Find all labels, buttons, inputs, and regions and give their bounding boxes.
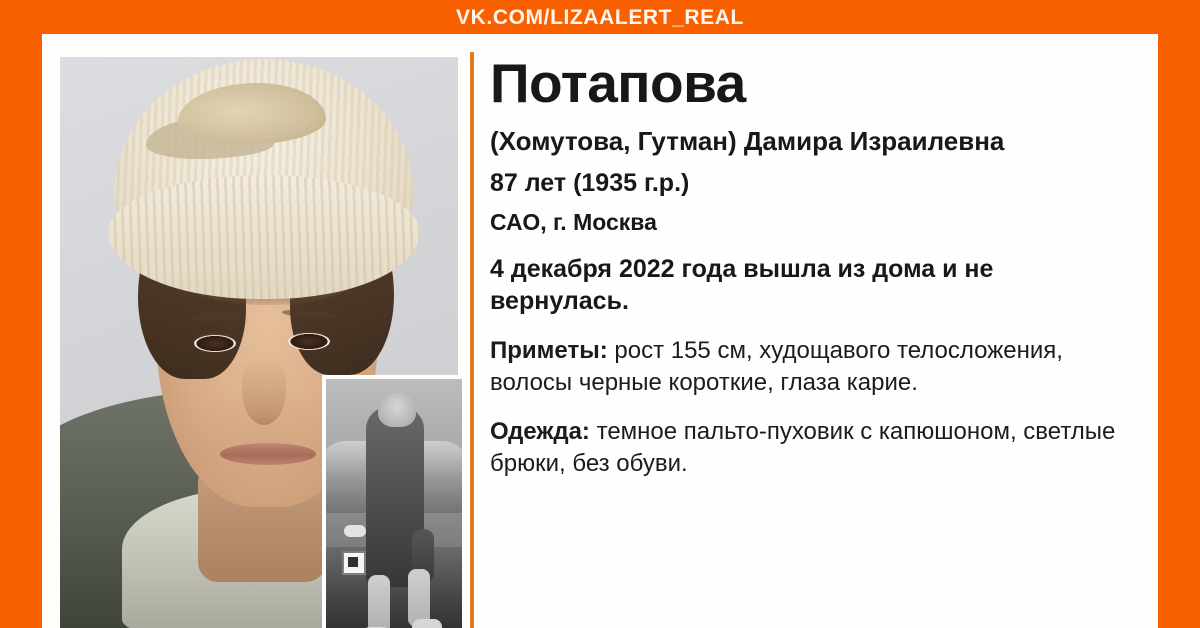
cctv-still-photo: [326, 379, 462, 628]
cctv-photo-frame: [322, 375, 462, 628]
photo-column: [60, 57, 458, 628]
signs-label: Приметы:: [490, 337, 608, 364]
person-surname: Потапова: [490, 56, 1138, 111]
cctv-person-hood: [378, 393, 416, 427]
missing-person-poster: VK.COM/LIZAALERT_REAL: [0, 0, 1200, 628]
eye-left: [194, 335, 236, 352]
text-column: Потапова (Хомутова, Гутман) Дамира Израи…: [490, 56, 1138, 498]
header-band: VK.COM/LIZAALERT_REAL: [0, 0, 1200, 34]
vk-url-text: VK.COM/LIZAALERT_REAL: [456, 7, 744, 28]
cctv-person-leg-left: [368, 575, 390, 628]
hat-brim-shape: [108, 175, 420, 299]
content-card: Потапова (Хомутова, Гутман) Дамира Израи…: [42, 34, 1158, 628]
signs-paragraph: Приметы: рост 155 см, худощавого телосло…: [490, 335, 1138, 398]
clothing-label: Одежда:: [490, 418, 590, 445]
eye-right: [288, 333, 330, 350]
vertical-divider: [470, 52, 474, 628]
cctv-sign-shape: [342, 551, 366, 575]
cctv-light-reflection: [344, 525, 366, 537]
disappearance-circumstances: 4 декабря 2022 года вышла из дома и не в…: [490, 253, 1120, 317]
person-age: 87 лет (1935 г.р.): [490, 169, 1138, 198]
mouth-shape: [220, 443, 316, 465]
cctv-person-foot-right: [412, 619, 442, 628]
clothing-paragraph: Одежда: темное пальто-пуховик с капюшоно…: [490, 416, 1138, 479]
person-region: САО, г. Москва: [490, 209, 1138, 235]
nose-shape: [242, 357, 286, 425]
person-other-names: (Хомутова, Гутман) Дамира Израилевна: [490, 127, 1138, 157]
